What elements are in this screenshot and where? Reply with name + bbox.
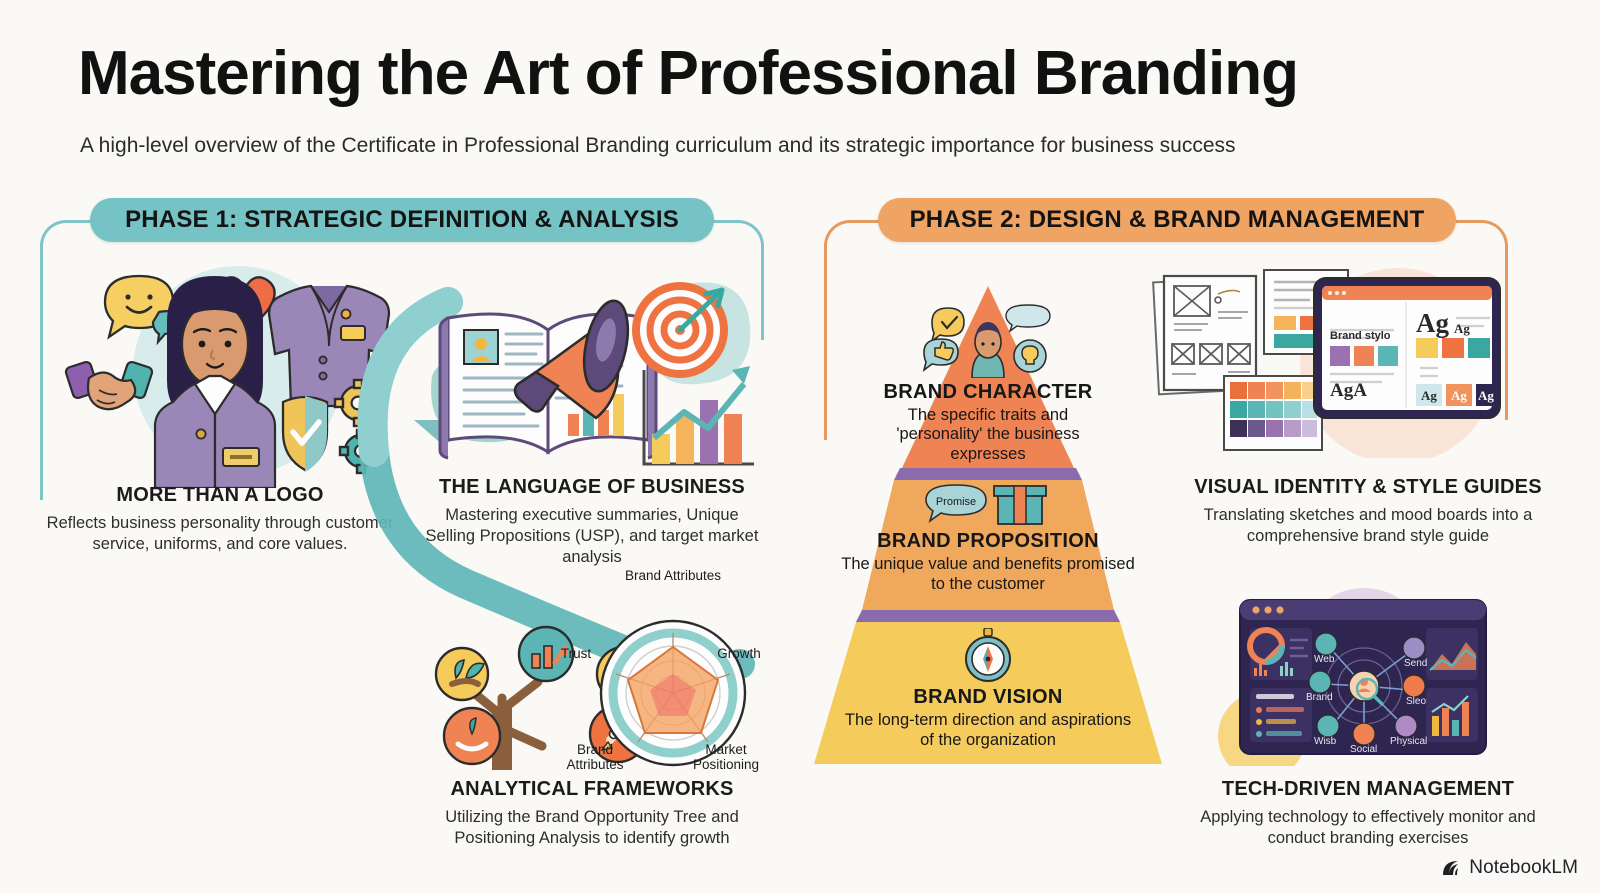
- block-language-of-business: THE LANGUAGE OF BUSINESS Mastering execu…: [424, 476, 760, 568]
- notebooklm-watermark: NotebookLM: [1440, 857, 1578, 879]
- block-body: Applying technology to effectively monit…: [1180, 807, 1556, 849]
- type-chip-2: Ag: [1451, 388, 1467, 404]
- infographic-canvas: Mastering the Art of Professional Brandi…: [0, 0, 1600, 893]
- handshake-icon: [65, 361, 154, 409]
- shield-check-icon: [283, 396, 327, 472]
- gift-icon: [994, 486, 1046, 524]
- radar-label-bottom-left: Brand Attributes: [552, 742, 638, 772]
- brand-proposition-text: BRAND PROPOSITION The unique value and b…: [762, 530, 1214, 595]
- brand-proposition-badges: Promise: [922, 480, 1054, 528]
- person-avatar-icon: [155, 276, 275, 488]
- lightbulb-bubble-icon: [1014, 340, 1046, 372]
- node-label-wisb: Wisb: [1314, 736, 1336, 747]
- block-heading: MORE THAN A LOGO: [44, 484, 396, 507]
- block-body: Translating sketches and mood boards int…: [1180, 505, 1556, 547]
- watermark-label: NotebookLM: [1469, 857, 1578, 879]
- radar-label-right: Growth: [708, 646, 770, 661]
- brand-pyramid: BRAND CHARACTER The specific traits and …: [762, 286, 1214, 764]
- block-heading: THE LANGUAGE OF BUSINESS: [424, 476, 760, 499]
- block-visual-identity: VISUAL IDENTITY & STYLE GUIDES Translati…: [1180, 476, 1556, 547]
- thumbs-up-bubble-icon: [924, 339, 958, 370]
- phase-1-header[interactable]: PHASE 1: STRATEGIC DEFINITION & ANALYSIS: [90, 198, 714, 242]
- compass-icon: [962, 628, 1014, 684]
- type-specimen-large: Ag: [1416, 308, 1449, 339]
- color-palette-card-icon: [1224, 376, 1322, 450]
- check-bubble-icon: [932, 308, 964, 341]
- notebooklm-logo-icon: [1440, 858, 1462, 878]
- node-label-send: Send: [1404, 658, 1427, 669]
- visual-identity-illustration: Brand stylo Ag Ag AgA Ag Ag Ag: [1148, 258, 1504, 458]
- node-label-web: Web: [1314, 654, 1334, 665]
- radar-label-left: Trust: [548, 646, 604, 661]
- radar-label-bottom-right: Market Positioning: [684, 742, 768, 772]
- type-chip-3: Ag: [1478, 388, 1494, 404]
- node-label-brand: Brand: [1306, 692, 1333, 703]
- block-heading: TECH-DRIVEN MANAGEMENT: [1180, 778, 1556, 801]
- tablet-title: Brand stylo: [1330, 330, 1391, 342]
- person-head-icon: [972, 322, 1004, 378]
- smiley-speech-icon: [105, 276, 177, 342]
- pyramid-divider-1: [762, 468, 1214, 480]
- tier-description: The unique value and benefits promised t…: [762, 553, 1214, 595]
- more-than-a-logo-illustration: [55, 252, 400, 488]
- tech-driven-management-illustration: Web Send Brand Sleo Wisb Social Physical: [1214, 586, 1494, 766]
- brand-character-text: BRAND CHARACTER The specific traits and …: [762, 382, 1214, 465]
- node-label-physical: Physical: [1390, 736, 1427, 747]
- phase-2-label: PHASE 2: DESIGN & BRAND MANAGEMENT: [910, 206, 1425, 234]
- node-label-social: Social: [1350, 744, 1377, 755]
- brand-character-badges: [922, 300, 1054, 378]
- tier-description: The long-term direction and aspirations …: [762, 709, 1214, 751]
- node-label-sleo: Sleo: [1406, 696, 1426, 707]
- phase-2-header[interactable]: PHASE 2: DESIGN & BRAND MANAGEMENT: [878, 198, 1456, 242]
- tier-title: BRAND VISION: [762, 686, 1214, 709]
- type-specimen-mixed: AgA: [1330, 380, 1367, 402]
- promise-bubble-icon: Promise: [926, 485, 986, 521]
- page-title: Mastering the Art of Professional Brandi…: [78, 38, 1298, 109]
- block-body: Utilizing the Brand Opportunity Tree and…: [404, 807, 780, 849]
- brand-vision-text: BRAND VISION The long-term direction and…: [762, 686, 1214, 751]
- svg-text:Promise: Promise: [936, 496, 976, 508]
- target-icon: [636, 286, 724, 374]
- phase-1-label: PHASE 1: STRATEGIC DEFINITION & ANALYSIS: [125, 206, 679, 234]
- tier-title: BRAND PROPOSITION: [762, 530, 1214, 553]
- block-heading: ANALYTICAL FRAMEWORKS: [404, 778, 780, 801]
- block-body: Mastering executive summaries, Unique Se…: [424, 505, 760, 568]
- type-specimen-small: Ag: [1454, 321, 1470, 337]
- pyramid-divider-2: [762, 610, 1214, 622]
- type-chip-1: Ag: [1421, 388, 1437, 404]
- tier-description: The specific traits and 'personality' th…: [762, 404, 1214, 465]
- radar-label-top: Brand Attributes: [613, 568, 733, 583]
- realize-bubble-icon: [1006, 305, 1050, 331]
- block-more-than-a-logo: MORE THAN A LOGO Reflects business perso…: [44, 484, 396, 555]
- language-of-business-illustration: [428, 268, 772, 472]
- tier-title: BRAND CHARACTER: [762, 382, 1214, 404]
- block-tech-driven-management: TECH-DRIVEN MANAGEMENT Applying technolo…: [1180, 778, 1556, 849]
- block-heading: VISUAL IDENTITY & STYLE GUIDES: [1180, 476, 1556, 499]
- page-subtitle: A high-level overview of the Certificate…: [80, 134, 1236, 158]
- block-body: Reflects business personality through cu…: [44, 513, 396, 555]
- block-analytical-frameworks: ANALYTICAL FRAMEWORKS Utilizing the Bran…: [404, 778, 780, 849]
